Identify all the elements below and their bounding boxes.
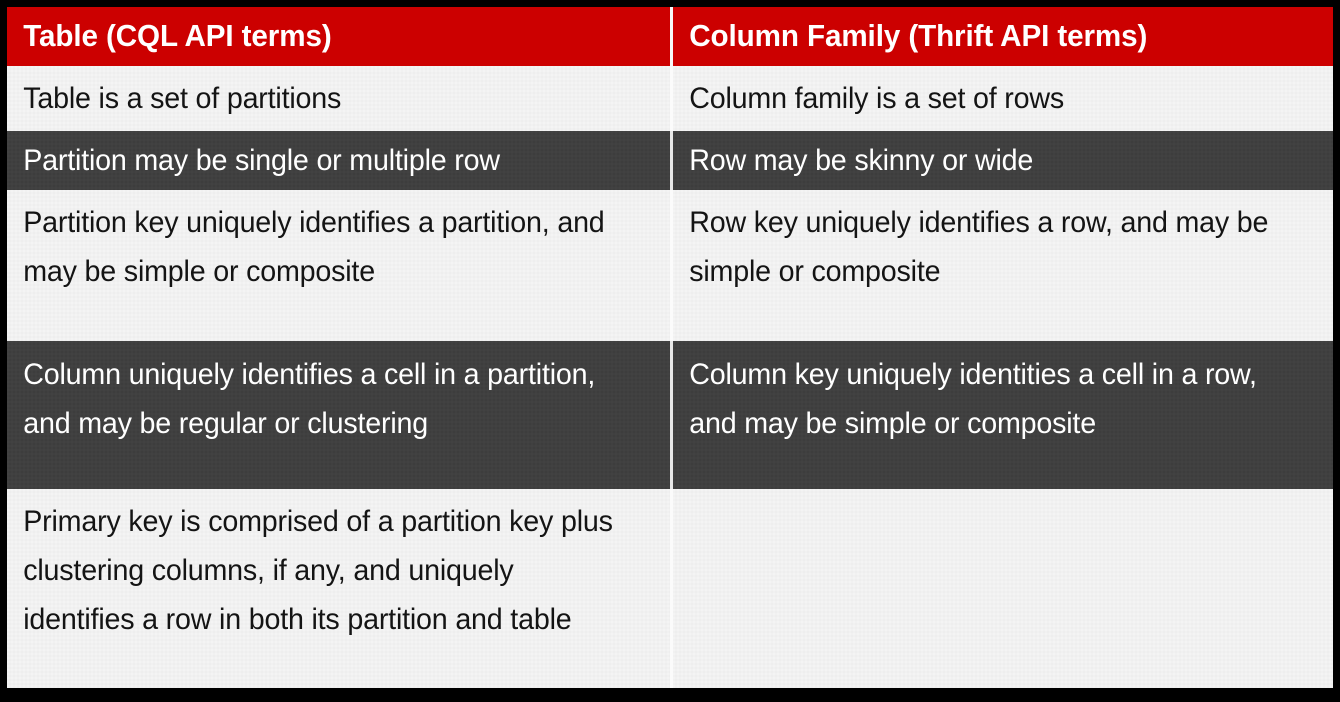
cell-text-thrift-5	[673, 489, 1303, 497]
cell-thrift-1: Column family is a set of rows	[670, 66, 1333, 131]
cell-thrift-5	[670, 489, 1333, 688]
header-label-thrift: Column Family (Thrift API terms)	[673, 7, 1303, 62]
cell-cql-5: Primary key is comprised of a partition …	[7, 489, 670, 688]
header-cell-cql: Table (CQL API terms)	[7, 7, 670, 66]
table-row: Primary key is comprised of a partition …	[7, 489, 1333, 688]
cell-thrift-3: Row key uniquely identifies a row, and m…	[670, 190, 1333, 341]
cell-text-cql-2: Partition may be single or multiple row	[7, 131, 640, 185]
cell-text-cql-5: Primary key is comprised of a partition …	[7, 489, 640, 644]
cell-text-thrift-4: Column key uniquely identities a cell in…	[673, 341, 1303, 448]
cell-cql-4: Column uniquely identifies a cell in a p…	[7, 341, 670, 489]
table-grid: Table (CQL API terms) Column Family (Thr…	[7, 7, 1333, 688]
screenshot-root: Table (CQL API terms) Column Family (Thr…	[0, 0, 1340, 702]
header-label-cql: Table (CQL API terms)	[7, 7, 640, 62]
header-cell-thrift: Column Family (Thrift API terms)	[670, 7, 1333, 66]
comparison-table: Table (CQL API terms) Column Family (Thr…	[7, 7, 1333, 688]
cell-text-cql-3: Partition key uniquely identifies a part…	[7, 190, 640, 296]
table-row: Partition key uniquely identifies a part…	[7, 190, 1333, 341]
cell-text-thrift-3: Row key uniquely identifies a row, and m…	[673, 190, 1303, 296]
table-header-row: Table (CQL API terms) Column Family (Thr…	[7, 7, 1333, 66]
cell-cql-3: Partition key uniquely identifies a part…	[7, 190, 670, 341]
cell-cql-2: Partition may be single or multiple row	[7, 131, 670, 190]
table-row: Table is a set of partitions Column fami…	[7, 66, 1333, 131]
table-row: Partition may be single or multiple row …	[7, 131, 1333, 190]
cell-text-thrift-1: Column family is a set of rows	[673, 66, 1303, 123]
table-row: Column uniquely identifies a cell in a p…	[7, 341, 1333, 489]
cell-text-cql-4: Column uniquely identifies a cell in a p…	[7, 341, 640, 448]
cell-thrift-4: Column key uniquely identities a cell in…	[670, 341, 1333, 489]
cell-thrift-2: Row may be skinny or wide	[670, 131, 1333, 190]
cell-text-cql-1: Table is a set of partitions	[7, 66, 640, 123]
cell-cql-1: Table is a set of partitions	[7, 66, 670, 131]
cell-text-thrift-2: Row may be skinny or wide	[673, 131, 1303, 185]
